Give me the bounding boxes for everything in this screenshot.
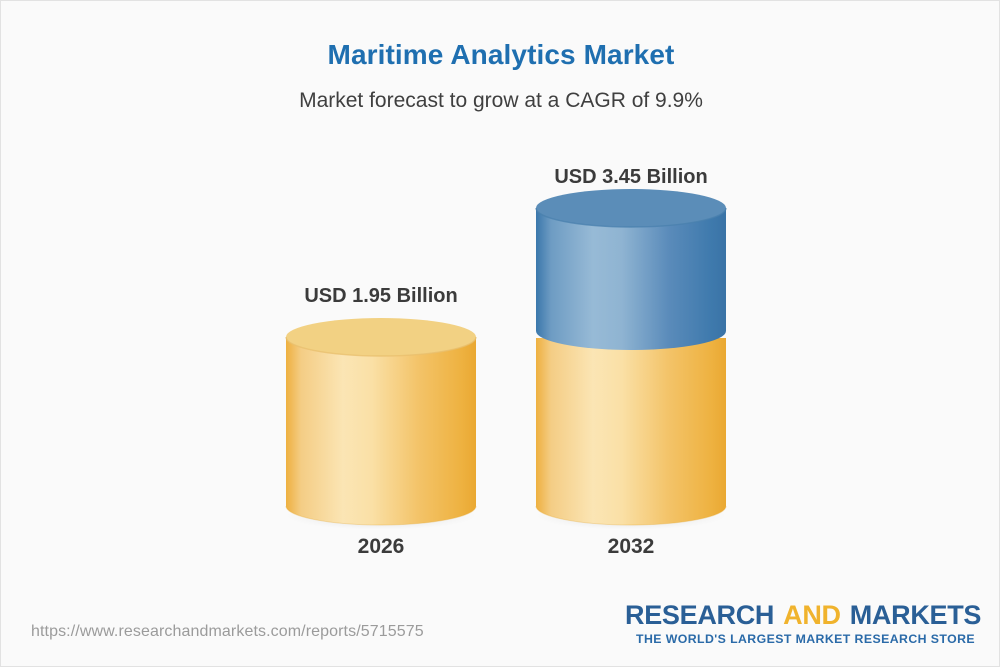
bar-chart-plot	[1, 1, 1000, 667]
value-label-2026: USD 1.95 Billion	[281, 285, 481, 308]
value-label-2032: USD 3.45 Billion	[531, 166, 731, 189]
logo-word-markets: MARKETS	[850, 600, 981, 630]
bar-2032-lower-body	[536, 338, 726, 525]
research-and-markets-logo[interactable]: RESEARCHANDMARKETS THE WORLD'S LARGEST M…	[625, 601, 975, 646]
logo-word-and: AND	[783, 600, 841, 630]
bar-2032-upper-body	[536, 208, 726, 350]
logo-tagline: THE WORLD'S LARGEST MARKET RESEARCH STOR…	[625, 632, 975, 646]
category-label-2026: 2026	[281, 535, 481, 559]
bar-2026-body	[286, 337, 476, 525]
category-label-2032: 2032	[531, 535, 731, 559]
bar-2032[interactable]	[536, 189, 726, 525]
chart-canvas: Maritime Analytics Market Market forecas…	[0, 0, 1000, 667]
logo-wordmark: RESEARCHANDMARKETS	[625, 601, 975, 629]
logo-word-research: RESEARCH	[625, 600, 774, 630]
bar-2026[interactable]	[286, 318, 476, 525]
source-url[interactable]: https://www.researchandmarkets.com/repor…	[31, 623, 424, 641]
